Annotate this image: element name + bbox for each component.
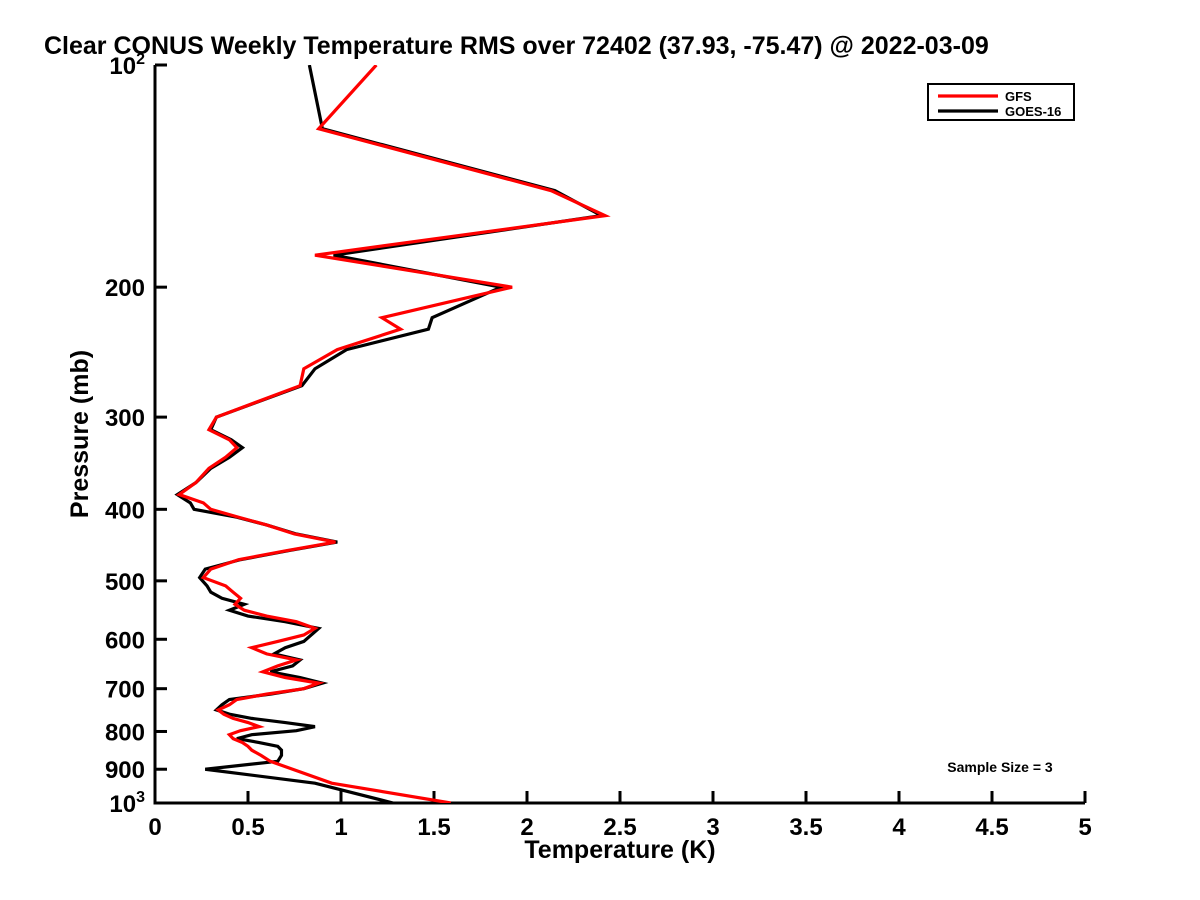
y-axis-label: Pressure (mb) <box>66 350 94 518</box>
y-axis-ticks: 102200300400500600700800900103 <box>105 51 167 818</box>
x-axis-label: Temperature (K) <box>524 836 715 864</box>
legend-label-gfs: GFS <box>1005 89 1032 104</box>
chart-title: Clear CONUS Weekly Temperature RMS over … <box>44 32 989 60</box>
temperature-rms-profile-plot: Clear CONUS Weekly Temperature RMS over … <box>0 0 1200 900</box>
data-series-group <box>177 65 605 803</box>
series-line-gfs <box>179 65 605 803</box>
x-tick-label: 0.5 <box>231 814 264 841</box>
y-tick-label: 102 <box>109 51 145 80</box>
y-tick-label: 500 <box>105 569 145 596</box>
x-tick-label: 4 <box>892 814 906 841</box>
x-tick-label: 5 <box>1078 814 1091 841</box>
y-tick-label: 900 <box>105 757 145 784</box>
y-tick-label: 400 <box>105 497 145 524</box>
axis-frame <box>155 65 1085 803</box>
y-tick-label: 103 <box>109 789 145 818</box>
y-tick-label: 200 <box>105 275 145 302</box>
x-tick-label: 1 <box>334 814 347 841</box>
chart-legend[interactable]: GFSGOES-16 <box>928 84 1074 120</box>
chart-figure: Clear CONUS Weekly Temperature RMS over … <box>0 0 1200 900</box>
x-tick-label: 1.5 <box>417 814 450 841</box>
y-tick-label: 800 <box>105 719 145 746</box>
x-axis-ticks: 00.511.522.533.544.55 <box>148 791 1091 841</box>
legend-label-goes-16: GOES-16 <box>1005 104 1061 119</box>
x-tick-label: 4.5 <box>975 814 1008 841</box>
x-tick-label: 0 <box>148 814 161 841</box>
y-tick-label: 700 <box>105 677 145 704</box>
x-tick-label: 3.5 <box>789 814 822 841</box>
y-tick-label: 600 <box>105 627 145 654</box>
series-line-goes-16 <box>177 65 601 803</box>
sample-size-annotation: Sample Size = 3 <box>947 759 1053 775</box>
y-tick-label: 300 <box>105 405 145 432</box>
